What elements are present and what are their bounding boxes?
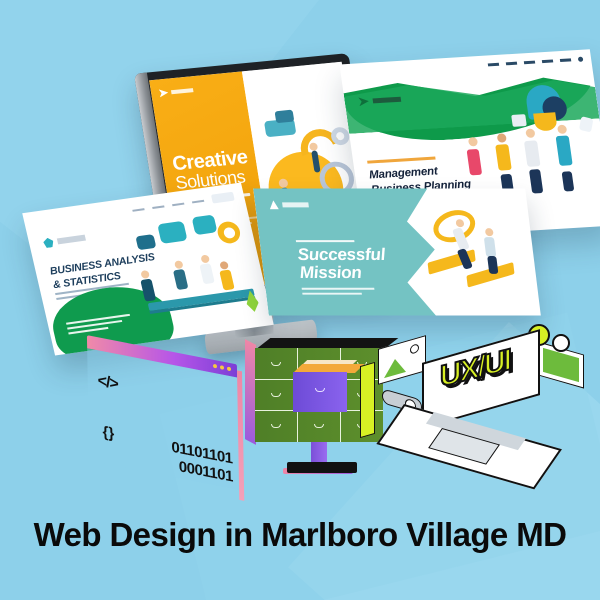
card-eyebrow bbox=[367, 157, 436, 164]
person-legs bbox=[487, 256, 498, 274]
person-body bbox=[484, 237, 497, 257]
person-head bbox=[468, 137, 478, 146]
person-body bbox=[495, 144, 512, 171]
chat-bubble-icon bbox=[191, 215, 217, 236]
person-head bbox=[485, 228, 494, 236]
management-headline-line1: Management bbox=[368, 165, 438, 181]
ring-shape bbox=[427, 204, 481, 248]
cabinet-base bbox=[287, 462, 357, 473]
page-title: Web Design in Marlboro Village MD bbox=[0, 516, 600, 554]
curly-brace-icon: {} bbox=[102, 423, 114, 442]
card-nav bbox=[131, 192, 234, 215]
person-body bbox=[140, 278, 156, 301]
person-head bbox=[219, 261, 229, 270]
meeting-illustration bbox=[123, 210, 271, 338]
uxui-laptop: UX/UI bbox=[400, 346, 568, 476]
code-tag-icon: </> bbox=[98, 372, 118, 394]
card-logo-icon bbox=[42, 233, 86, 249]
mission-headline-line2: Mission bbox=[299, 263, 363, 282]
mission-card: Successful Mission bbox=[253, 188, 541, 315]
chat-bubble-icon bbox=[135, 234, 156, 250]
person-body bbox=[524, 140, 541, 167]
card-rule bbox=[296, 240, 355, 242]
person-legs bbox=[562, 171, 575, 191]
person-head bbox=[496, 133, 506, 142]
chat-bubble-icon-small bbox=[274, 110, 294, 124]
analysis-card: BUSINESS ANALYSIS & STATISTICS bbox=[22, 183, 274, 356]
card-body-lines bbox=[302, 288, 376, 298]
person-legs bbox=[529, 169, 543, 193]
card-nav bbox=[488, 57, 584, 68]
hero-banner: Creative Solutions bbox=[0, 0, 600, 600]
person-body bbox=[555, 136, 572, 167]
ruler-icon bbox=[360, 362, 375, 438]
cabinet-stand bbox=[311, 442, 327, 464]
person-head bbox=[525, 129, 535, 138]
person-body bbox=[173, 269, 188, 290]
mission-headline: Successful Mission bbox=[297, 246, 389, 281]
person-head bbox=[200, 254, 210, 263]
monitor-logo-icon bbox=[159, 86, 194, 97]
person-body bbox=[466, 149, 482, 175]
person-head bbox=[140, 270, 150, 279]
code-browser: </> {} 01101101 0001101 bbox=[87, 335, 239, 490]
person-head bbox=[556, 124, 566, 133]
balloon-shape bbox=[533, 112, 558, 131]
browser-window-controls[interactable] bbox=[213, 364, 231, 372]
document-shape bbox=[511, 114, 527, 127]
mission-illustration bbox=[414, 200, 536, 307]
gear-icon-white bbox=[552, 334, 570, 352]
person-body bbox=[219, 270, 234, 291]
chat-bubble-icon bbox=[158, 221, 188, 244]
person-head bbox=[174, 260, 184, 269]
document-shape bbox=[579, 117, 593, 133]
open-drawer[interactable] bbox=[293, 372, 347, 412]
mission-headline-line1: Successful bbox=[296, 245, 386, 264]
card-logo-icon bbox=[269, 200, 309, 209]
person-body bbox=[200, 263, 215, 284]
table-shape bbox=[148, 288, 255, 311]
